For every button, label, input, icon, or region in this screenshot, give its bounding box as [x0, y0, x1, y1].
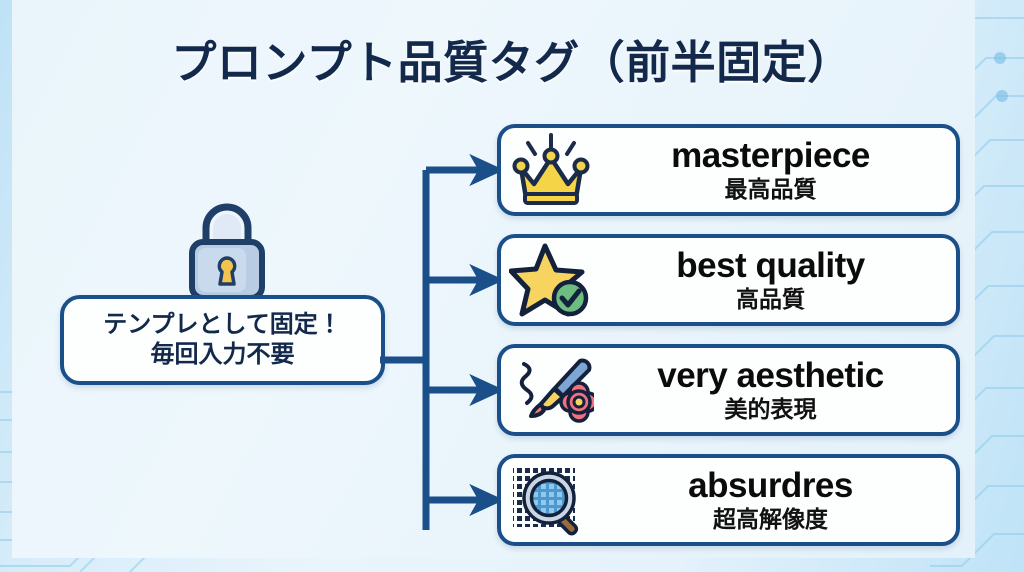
tag-card-masterpiece[interactable]: masterpiece 最高品質 — [497, 124, 960, 216]
tag-card-absurdres[interactable]: absurdres 超高解像度 — [497, 454, 960, 546]
source-box: テンプレとして固定！ 毎回入力不要 — [60, 295, 385, 385]
connector-arrows — [380, 110, 510, 530]
crown-icon — [501, 128, 601, 212]
tag-term: best quality — [676, 248, 864, 285]
tag-term: masterpiece — [671, 138, 870, 175]
tag-translation: 美的表現 — [725, 396, 817, 422]
tag-card-text: masterpiece 最高品質 — [601, 138, 956, 202]
tag-translation: 高品質 — [736, 286, 805, 312]
tag-term: absurdres — [688, 468, 853, 505]
tag-term: very aesthetic — [657, 358, 883, 395]
slide-canvas: プロンプト品質タグ（前半固定） テンプレとして固定！ 毎回入力不要 — [0, 0, 1024, 572]
tag-translation: 超高解像度 — [713, 506, 828, 532]
paintbrush-flower-icon — [501, 348, 601, 432]
tag-card-text: absurdres 超高解像度 — [601, 468, 956, 532]
tag-card-very-aesthetic[interactable]: very aesthetic 美的表現 — [497, 344, 960, 436]
source-line-2: 毎回入力不要 — [151, 341, 295, 369]
tag-card-best-quality[interactable]: best quality 高品質 — [497, 234, 960, 326]
tag-card-text: very aesthetic 美的表現 — [601, 358, 956, 422]
tag-card-text: best quality 高品質 — [601, 248, 956, 312]
tag-translation: 最高品質 — [725, 176, 817, 202]
magnifier-pixels-icon — [501, 458, 601, 542]
source-line-1: テンプレとして固定！ — [103, 311, 342, 339]
page-title: プロンプト品質タグ（前半固定） — [0, 26, 1024, 91]
padlock-icon — [182, 196, 272, 304]
star-check-icon — [501, 238, 601, 322]
